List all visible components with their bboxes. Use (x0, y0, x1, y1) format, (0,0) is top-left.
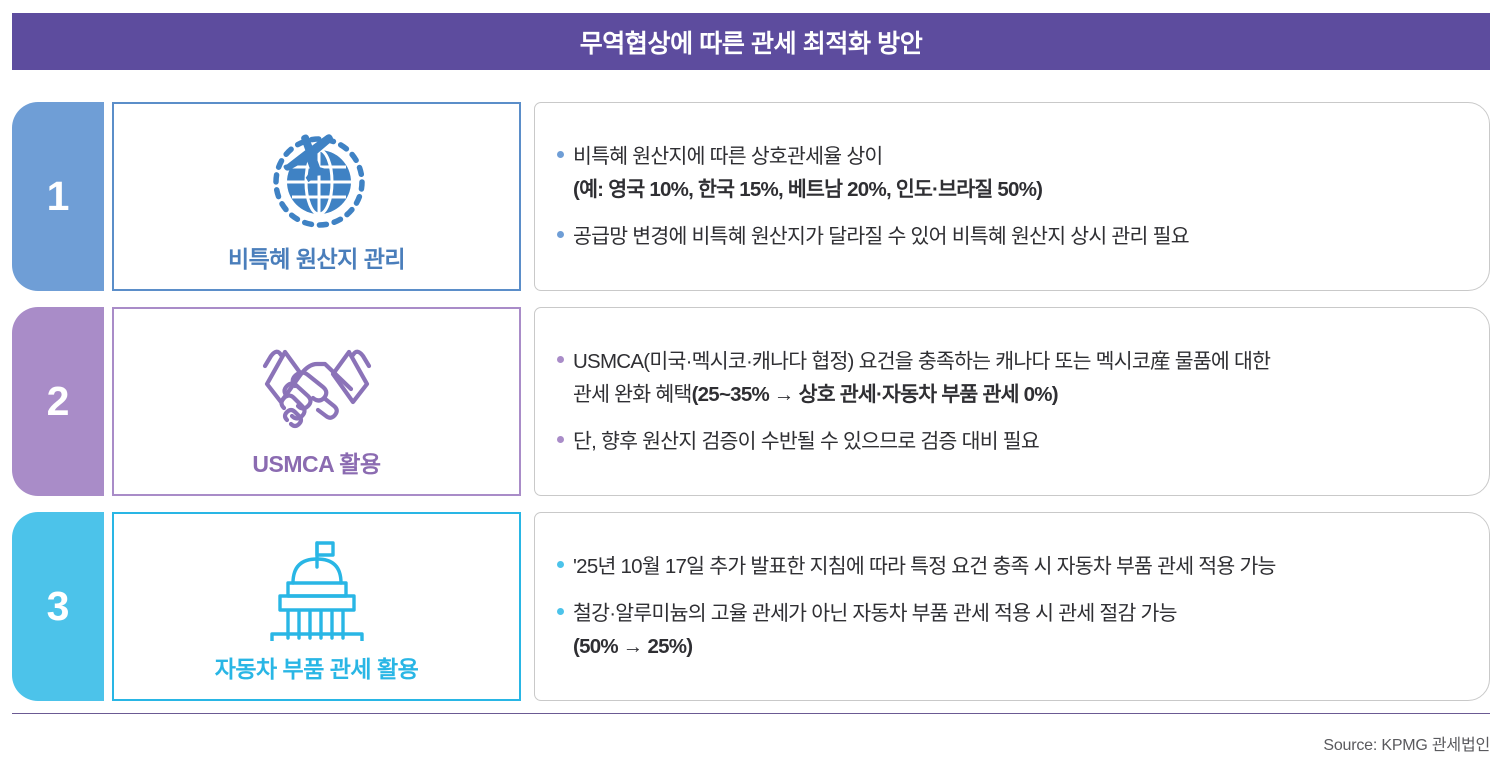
bullet-dot-icon (557, 231, 564, 238)
rows-container: 1 (12, 102, 1490, 701)
content-panel-1: 비특혜 원산지에 따른 상호관세율 상이 (예: 영국 10%, 한국 15%,… (534, 102, 1490, 291)
step-number-label: 3 (47, 586, 70, 627)
bullet-text: '25년 10월 17일 추가 발표한 지침에 따라 특정 요건 충족 시 자동… (573, 550, 1276, 583)
bullet-line: 공급망 변경에 비특혜 원산지가 달라질 수 있어 비특혜 원산지 상시 관리 … (573, 220, 1189, 253)
list-item: '25년 10월 17일 추가 발표한 지침에 따라 특정 요건 충족 시 자동… (557, 550, 1463, 583)
bullet-text: USMCA(미국·멕시코·캐나다 협정) 요건을 충족하는 캐나다 또는 멕시코… (573, 345, 1270, 411)
bullet-line: USMCA(미국·멕시코·캐나다 협정) 요건을 충족하는 캐나다 또는 멕시코… (573, 345, 1270, 378)
bullet-line: 관세 완화 혜택(25~35% → 상호 관세·자동차 부품 관세 0%) (573, 378, 1270, 411)
icon-card-1: 비특혜 원산지 관리 (112, 102, 521, 291)
bullet-text: 철강·알루미늄의 고율 관세가 아닌 자동차 부품 관세 적용 시 관세 절감 … (573, 597, 1177, 663)
icon-card-3: 자동차 부품 관세 활용 (112, 512, 521, 701)
bullet-line-plain: 관세 완화 혜택 (573, 383, 692, 406)
bullet-dot-icon (557, 561, 564, 568)
bullet-dot-icon (557, 151, 564, 158)
bullet-text: 비특혜 원산지에 따른 상호관세율 상이 (예: 영국 10%, 한국 15%,… (573, 140, 1042, 206)
bullet-line-emphasis: (50% → 25%) (573, 630, 1177, 663)
icon-card-label: 비특혜 원산지 관리 (228, 240, 405, 274)
step-number-label: 1 (47, 176, 70, 217)
bullet-line: 단, 향후 원산지 검증이 수반될 수 있으므로 검증 대비 필요 (573, 425, 1039, 458)
bullet-line-emphasis: (25~35% → 상호 관세·자동차 부품 관세 0%) (692, 383, 1058, 406)
bullet-dot-icon (557, 608, 564, 615)
step-number-label: 2 (47, 381, 70, 422)
step-number-badge-3: 3 (12, 512, 104, 701)
header-banner: 무역협상에 따른 관세 최적화 방안 (12, 13, 1490, 70)
table-row: 3 (12, 512, 1490, 701)
list-item: 철강·알루미늄의 고율 관세가 아닌 자동차 부품 관세 적용 시 관세 절감 … (557, 597, 1463, 663)
step-number-badge-2: 2 (12, 307, 104, 496)
page-title: 무역협상에 따른 관세 최적화 방안 (580, 24, 923, 60)
bullet-line: '25년 10월 17일 추가 발표한 지침에 따라 특정 요건 충족 시 자동… (573, 550, 1276, 583)
list-item: 공급망 변경에 비특혜 원산지가 달라질 수 있어 비특혜 원산지 상시 관리 … (557, 220, 1463, 253)
step-number-badge-1: 1 (12, 102, 104, 291)
source-label: Source: KPMG 관세법인 (12, 731, 1490, 755)
table-row: 2 (12, 307, 1490, 496)
icon-card-2: USMCA 활용 (112, 307, 521, 496)
capitol-building-icon (258, 529, 376, 641)
table-row: 1 (12, 102, 1490, 291)
bullet-line-emphasis: (예: 영국 10%, 한국 15%, 베트남 20%, 인도·브라질 50%) (573, 173, 1042, 206)
content-panel-3: '25년 10월 17일 추가 발표한 지침에 따라 특정 요건 충족 시 자동… (534, 512, 1490, 701)
bullet-line: 비특혜 원산지에 따른 상호관세율 상이 (573, 140, 1042, 173)
bullet-dot-icon (557, 436, 564, 443)
bullet-text: 단, 향후 원산지 검증이 수반될 수 있으므로 검증 대비 필요 (573, 425, 1039, 458)
footer-divider (12, 713, 1490, 714)
bullet-line: 철강·알루미늄의 고율 관세가 아닌 자동차 부품 관세 적용 시 관세 절감 … (573, 597, 1177, 630)
list-item: 비특혜 원산지에 따른 상호관세율 상이 (예: 영국 10%, 한국 15%,… (557, 140, 1463, 206)
footer: Source: KPMG 관세법인 (12, 713, 1490, 755)
list-item: USMCA(미국·멕시코·캐나다 협정) 요건을 충족하는 캐나다 또는 멕시코… (557, 345, 1463, 411)
icon-card-label: 자동차 부품 관세 활용 (215, 650, 419, 684)
list-item: 단, 향후 원산지 검증이 수반될 수 있으므로 검증 대비 필요 (557, 425, 1463, 458)
icon-card-label: USMCA 활용 (252, 445, 380, 479)
globe-airplane-icon (265, 119, 369, 231)
bullet-text: 공급망 변경에 비특혜 원산지가 달라질 수 있어 비특혜 원산지 상시 관리 … (573, 220, 1189, 253)
handshake-icon (254, 324, 380, 436)
bullet-dot-icon (557, 356, 564, 363)
content-panel-2: USMCA(미국·멕시코·캐나다 협정) 요건을 충족하는 캐나다 또는 멕시코… (534, 307, 1490, 496)
